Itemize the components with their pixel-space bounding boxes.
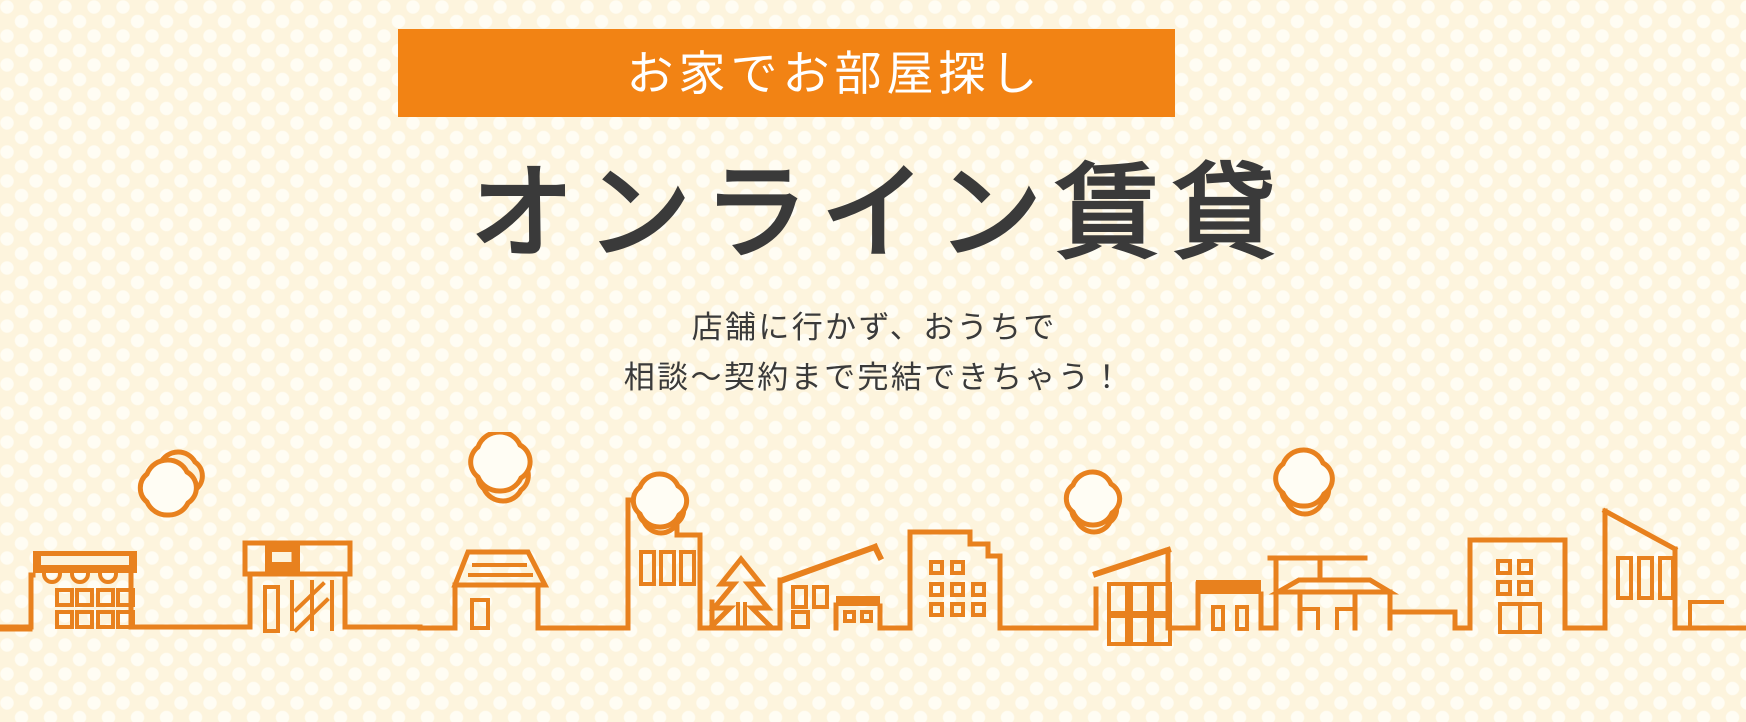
promo-banner-label: お家でお部屋探し <box>531 50 1043 97</box>
cloud-icon-3 <box>633 474 686 527</box>
cloud-icon-5 <box>1276 450 1333 506</box>
cloud-group <box>140 432 1332 527</box>
subtitle-line-1: 店舗に行かず、おうちで <box>0 303 1746 353</box>
slanted-roof-building <box>780 547 910 628</box>
cloud-icon-2 <box>471 432 530 491</box>
banner-container: お家でお部屋探し <box>0 29 1746 117</box>
cloud-icon-1 <box>140 460 196 515</box>
low-rise-building <box>245 543 420 631</box>
pine-tree <box>710 559 780 628</box>
warehouse <box>1196 580 1276 629</box>
promo-banner: お家でお部屋探し <box>398 29 1175 117</box>
office-building <box>1096 550 1198 644</box>
torii-roof-house <box>1270 558 1470 628</box>
apartment-block <box>910 532 1096 628</box>
cloud-icon-4 <box>1066 472 1119 525</box>
pitched-roof-house <box>420 552 628 628</box>
window-building <box>1470 540 1605 632</box>
subtitle-line-2: 相談〜契約まで完結できちゃう！ <box>0 353 1746 403</box>
cityscape-illustration <box>0 432 1746 722</box>
shop-with-awning <box>0 551 250 627</box>
angled-roof-building <box>1605 511 1746 628</box>
subtitle: 店舗に行かず、おうちで 相談〜契約まで完結できちゃう！ <box>0 303 1746 403</box>
page-title: オンライン賃貸 <box>0 158 1746 270</box>
hero-banner: お家でお部屋探し オンライン賃貸 店舗に行かず、おうちで 相談〜契約まで完結でき… <box>0 0 1746 722</box>
